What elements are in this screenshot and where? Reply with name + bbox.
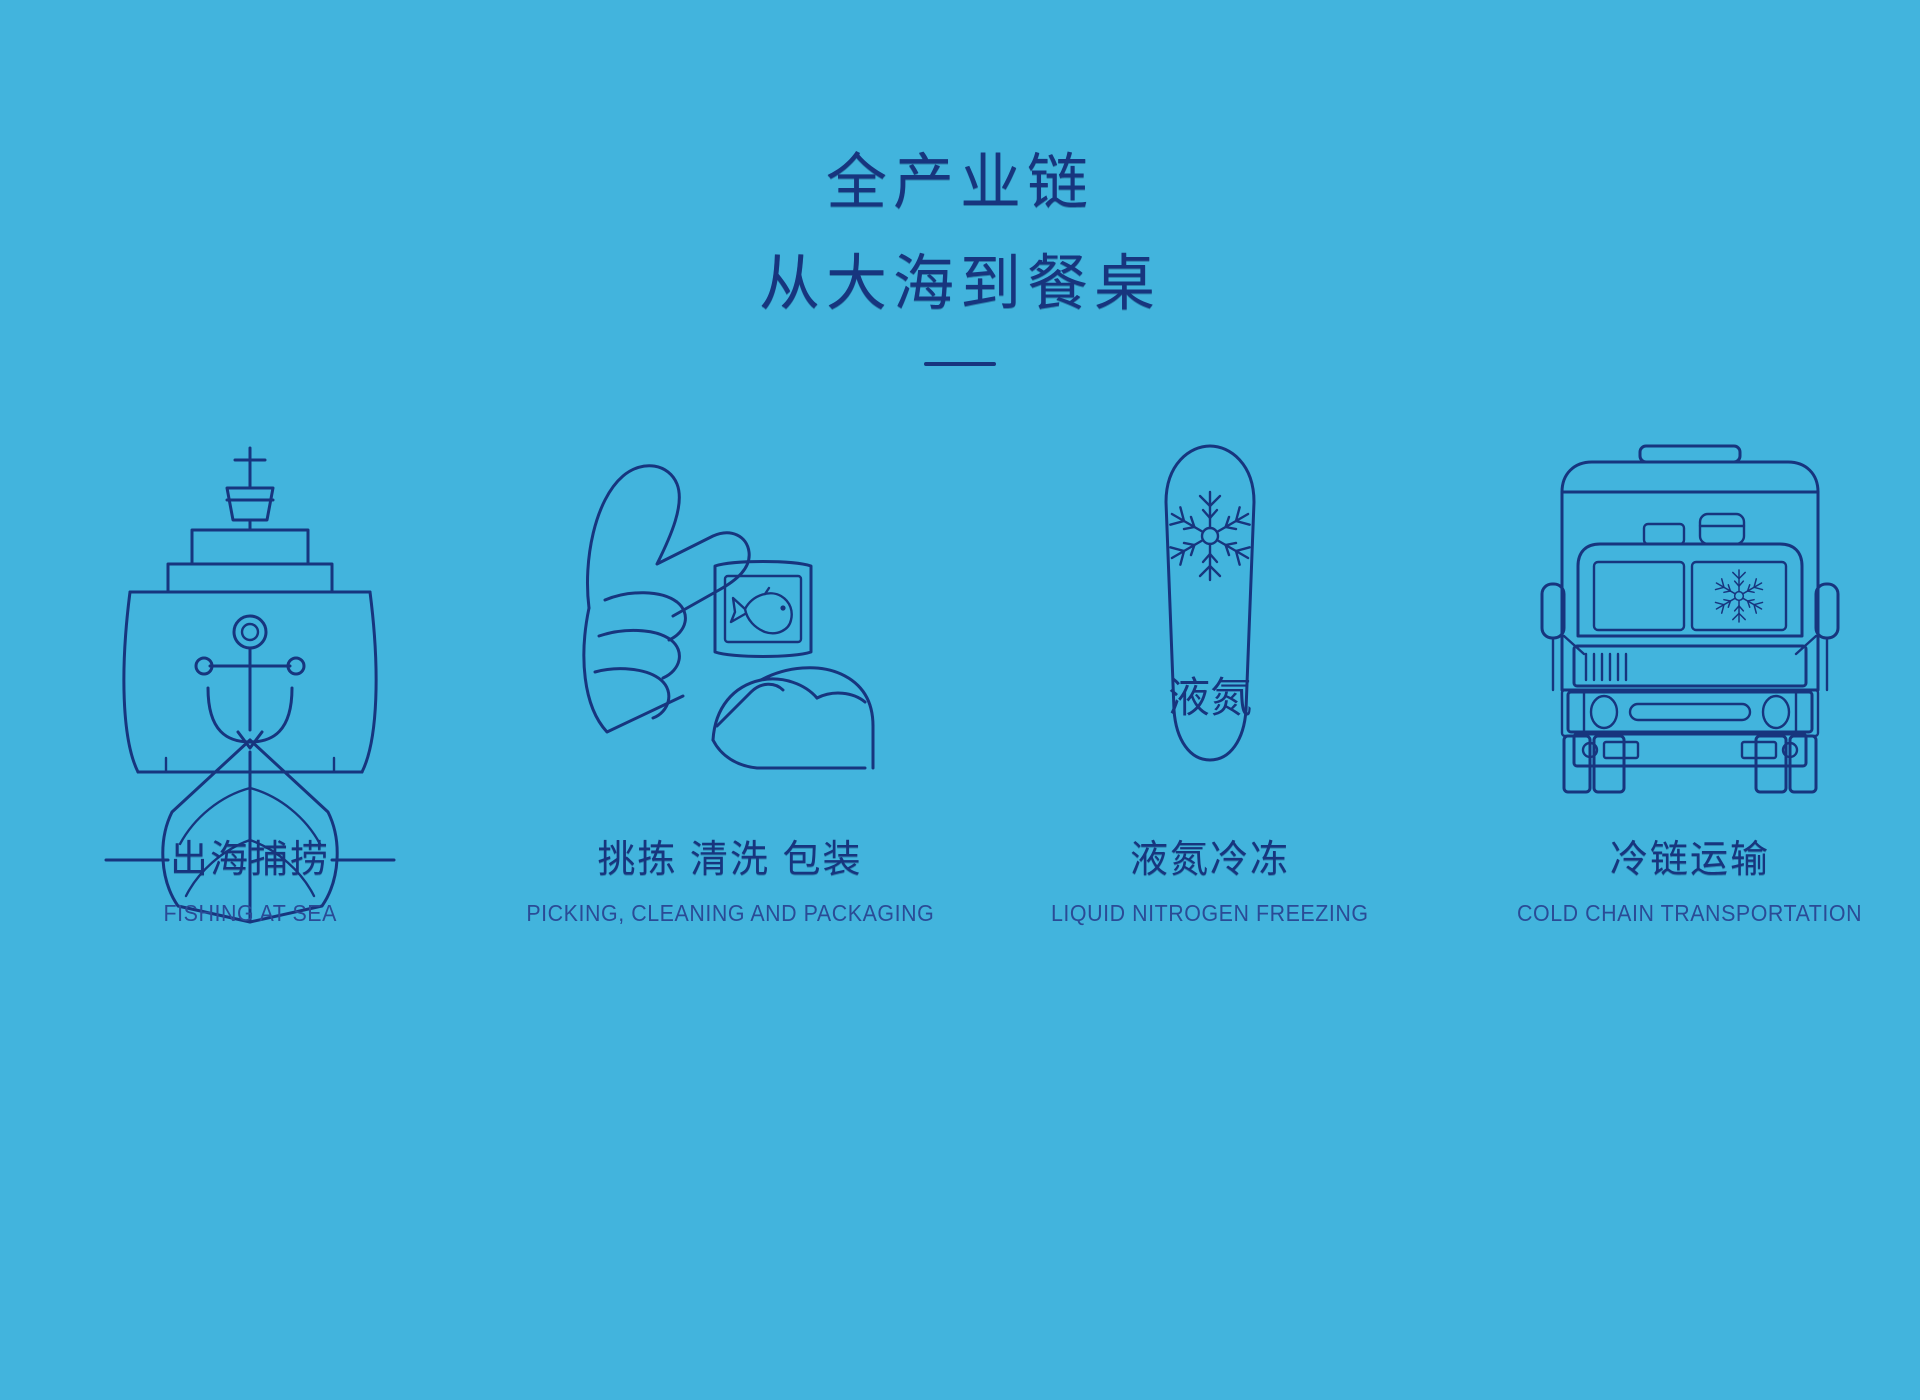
snowflake-icon-truck [1713,570,1764,622]
step-1-icon-box [100,430,400,770]
liquid-nitrogen-tank-icon: 液氮 [1110,440,1310,770]
step-fishing-at-sea[interactable]: 出海捕捞 FISHING AT SEA [10,430,490,927]
title-divider [924,362,996,366]
tank-text-cn: 液氮 [1168,674,1252,721]
step-2-label-cn: 挑拣 清洗 包装 [511,838,950,884]
step-3-label-en: LIQUID NITROGEN FREEZING [1051,900,1369,928]
step-3-icon-box: 液氮 [1110,430,1310,770]
step-1-label-cn: 出海捕捞 [157,838,343,884]
fishing-boat-icon [100,440,400,770]
step-cold-chain-transportation[interactable]: 冷链运输 COLD CHAIN TRANSPORTATION [1450,430,1920,927]
step-4-label-box: 冷链运输 COLD CHAIN TRANSPORTATION [1504,838,1875,927]
step-liquid-nitrogen-freezing[interactable]: 液氮 液氮冷冻 LIQUID NITROGEN FREEZING [970,430,1450,927]
page-title-line-2: 从大海到餐桌 [0,253,1920,314]
header-block: 全产业链 从大海到餐桌 [0,0,1920,366]
step-3-label-box: 液氮冷冻 LIQUID NITROGEN FREEZING [1039,838,1381,927]
step-2-label-box: 挑拣 清洗 包装 PICKING, CLEANING AND PACKAGING [511,838,950,927]
page-title-line-1: 全产业链 [0,152,1920,213]
step-3-label-cn: 液氮冷冻 [1039,838,1381,884]
step-picking-cleaning-packaging[interactable]: 挑拣 清洗 包装 PICKING, CLEANING AND PACKAGING [490,430,970,927]
step-2-icon-box [565,430,895,770]
infographic-canvas: 全产业链 从大海到餐桌 [0,0,1920,1400]
step-1-label-box: 出海捕捞 FISHING AT SEA [157,838,343,927]
title-divider-wrap [0,362,1920,366]
snowflake-icon [1167,492,1253,580]
step-4-icon-box [1540,430,1840,770]
step-4-label-en: COLD CHAIN TRANSPORTATION [1517,900,1862,928]
step-2-label-en: PICKING, CLEANING AND PACKAGING [526,900,934,928]
process-steps-row: 出海捕捞 FISHING AT SEA [0,430,1920,927]
step-1-label-en: FISHING AT SEA [163,900,336,928]
hands-fish-package-icon [565,440,895,770]
refrigerated-truck-icon [1540,440,1840,770]
step-4-label-cn: 冷链运输 [1504,838,1875,884]
